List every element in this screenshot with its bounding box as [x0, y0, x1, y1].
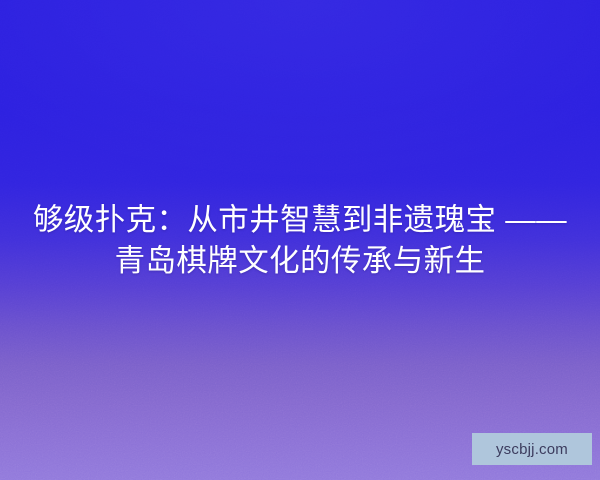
title-line-1: 够级扑克：从市井智慧到非遗瑰宝 —— — [14, 200, 586, 241]
watermark-label: yscbjj.com — [496, 442, 568, 457]
watermark-badge: yscbjj.com — [472, 433, 592, 465]
title-line-2: 青岛棋牌文化的传承与新生 — [14, 241, 586, 282]
hero-banner: 够级扑克：从市井智慧到非遗瑰宝 —— 青岛棋牌文化的传承与新生 yscbjj.c… — [0, 0, 600, 480]
page-title: 够级扑克：从市井智慧到非遗瑰宝 —— 青岛棋牌文化的传承与新生 — [0, 200, 600, 282]
